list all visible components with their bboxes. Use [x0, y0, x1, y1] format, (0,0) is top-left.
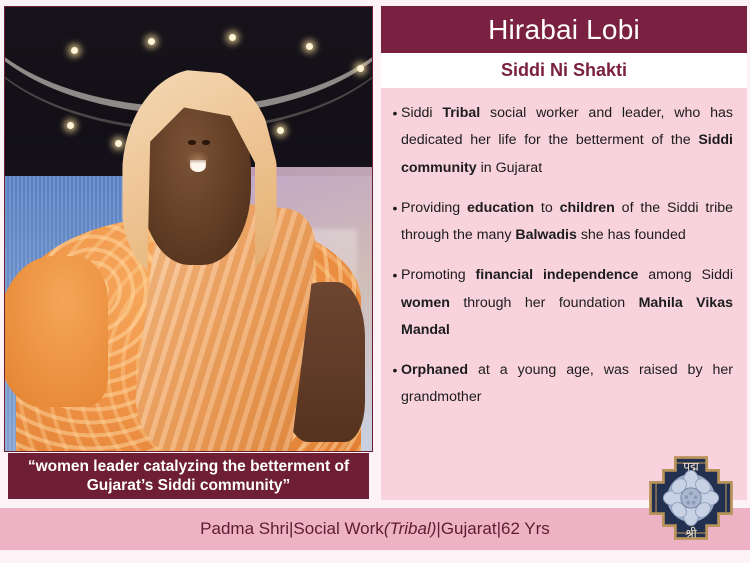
achievement-text: Providing education to children of the S… — [401, 195, 733, 250]
portrait-photo — [5, 7, 372, 451]
bullet-marker-icon: • — [389, 195, 401, 222]
achievements-list: •Siddi Tribal social worker and leader, … — [381, 88, 747, 500]
face-eye-right — [202, 140, 210, 145]
achievement-item: •Promoting financial independence among … — [389, 262, 733, 344]
achievement-item: •Providing education to children of the … — [389, 195, 733, 250]
achievement-text: Promoting financial independence among S… — [401, 262, 733, 344]
person-name-title: Hirabai Lobi — [381, 6, 747, 53]
person-subtitle: Siddi Ni Shakti — [381, 53, 747, 88]
face-eye-left — [188, 140, 196, 145]
profile-card: “women leader catalyzing the betterment … — [0, 0, 750, 563]
padma-shri-emblem-icon: पद्म श्री — [645, 452, 737, 544]
emblem-top-text: पद्म — [683, 459, 699, 473]
photo-quote-caption: “women leader catalyzing the betterment … — [8, 453, 369, 499]
award-footer-bar: Padma Shri | Social Work (Tribal) | Guja… — [0, 508, 750, 550]
bullet-marker-icon: • — [389, 262, 401, 289]
achievement-item: •Siddi Tribal social worker and leader, … — [389, 100, 733, 182]
face-smile — [190, 160, 205, 172]
footer-field-label: Social Work — [293, 519, 383, 539]
bullet-marker-icon: • — [389, 357, 401, 384]
portrait-subject — [5, 7, 372, 451]
footer-age-label: 62 Yrs — [501, 519, 550, 539]
info-panel: Hirabai Lobi Siddi Ni Shakti •Siddi Trib… — [381, 6, 747, 500]
sari-shoulder — [5, 256, 108, 407]
achievement-text: Siddi Tribal social worker and leader, w… — [401, 100, 733, 182]
portrait-photo-panel — [4, 6, 373, 452]
achievement-item: •Orphaned at a young age, was raised by … — [389, 357, 733, 412]
footer-award-label: Padma Shri — [200, 519, 289, 539]
footer-field-qualifier: (Tribal) — [384, 519, 437, 539]
footer-state-label: Gujarat — [441, 519, 497, 539]
emblem-lotus-center — [681, 488, 701, 508]
achievement-text: Orphaned at a young age, was raised by h… — [401, 357, 733, 412]
bullet-marker-icon: • — [389, 100, 401, 127]
emblem-bottom-text: श्री — [685, 527, 697, 541]
